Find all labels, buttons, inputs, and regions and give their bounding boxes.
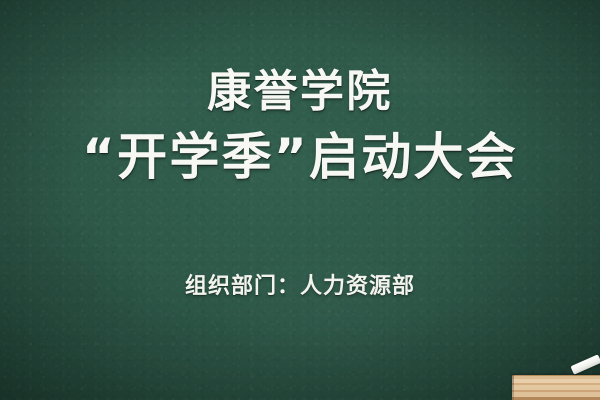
chalk-ledge-icon: [512, 375, 600, 400]
slide-subtitle: 组织部门：人力资源部: [0, 272, 600, 302]
title-slide: 康誉学院 “开学季”启动大会 组织部门：人力资源部: [0, 0, 600, 400]
slide-content: 康誉学院 “开学季”启动大会 组织部门：人力资源部: [0, 0, 600, 400]
page-title-line-1: 康誉学院: [0, 66, 600, 118]
chalk-ledge-left-edge: [512, 375, 514, 400]
page-title-line-2: “开学季”启动大会: [0, 128, 600, 186]
